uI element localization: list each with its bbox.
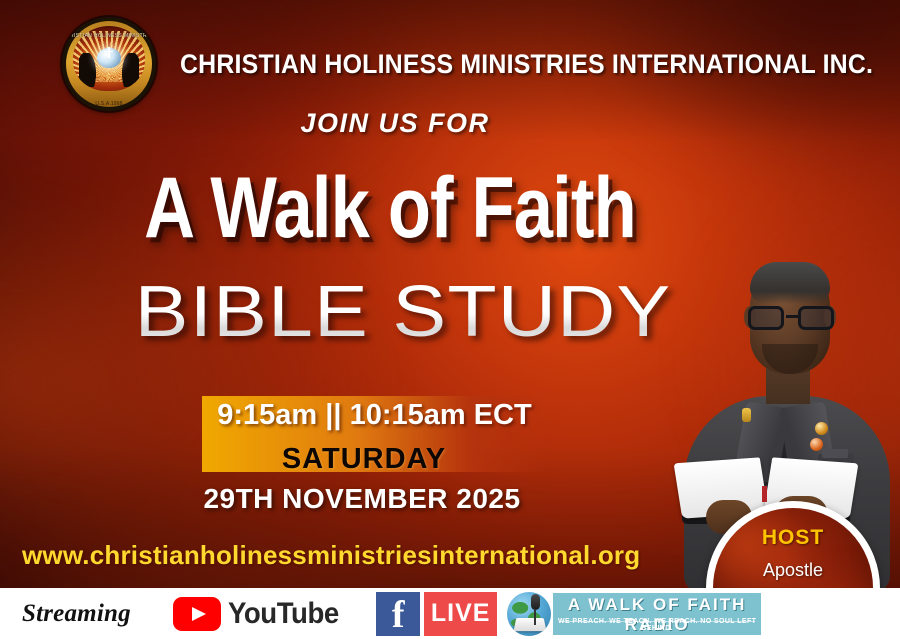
streaming-label: Streaming (22, 600, 131, 628)
logo-bottom-text: U.S.A 1998 (62, 101, 156, 107)
radio-book-icon (514, 618, 547, 631)
organization-name: CHRISTIAN HOLINESS MINISTRIES INTERNATIO… (180, 49, 873, 80)
streaming-bar: Streaming YouTube f LIVE A WALK OF FAITH… (0, 588, 900, 639)
schedule-time: 9:15am || 10:15am ECT (202, 399, 547, 432)
youtube-logo[interactable]: YouTube (173, 597, 348, 631)
website-url[interactable]: www.christianholinessministriesinternati… (22, 540, 682, 571)
glasses-bridge (786, 315, 798, 318)
radio-globe-icon (507, 592, 551, 636)
schedule-date: 29TH NOVEMBER 2025 (190, 483, 534, 515)
youtube-play-icon (173, 597, 221, 631)
header: CHRISTIAN HOLINESS MINISTRIES U.S.A 1998… (0, 14, 900, 114)
ministry-logo-icon: CHRISTIAN HOLINESS MINISTRIES U.S.A 1998 (62, 17, 156, 111)
radio-tagline: WE PREACH. WE TEACH. WE REACH. NO SOUL L… (553, 618, 761, 632)
host-label: HOST (713, 526, 873, 550)
eyeglasses-icon (746, 306, 836, 330)
facebook-f-glyph: f (376, 594, 420, 636)
host-hair (750, 262, 830, 304)
lapel-pin-gold (815, 422, 828, 435)
hero-kicker: JOIN US FOR (0, 108, 790, 139)
flyer-canvas: CHRISTIAN HOLINESS MINISTRIES U.S.A 1998… (0, 0, 900, 639)
lens-left (748, 306, 784, 330)
schedule-day: SATURDAY (202, 443, 526, 476)
lens-right (798, 306, 834, 330)
logo-arc-text: CHRISTIAN HOLINESS MINISTRIES (62, 21, 156, 51)
hero-title-script: A Walk of Faith (70, 160, 710, 256)
host-role: Apostle (713, 560, 873, 581)
microphone-icon (531, 594, 540, 610)
microphone-stem (534, 609, 536, 625)
bible-bookmark (762, 486, 767, 502)
youtube-wordmark: YouTube (228, 597, 339, 631)
radio-nameplate: A WALK OF FAITH RADIO WE PREACH. WE TEAC… (553, 593, 761, 635)
lapel-pin-flag (742, 408, 751, 422)
live-badge[interactable]: LIVE (424, 592, 497, 636)
logo-ring: CHRISTIAN HOLINESS MINISTRIES U.S.A 1998 (62, 17, 156, 111)
lapel-pin-orange (810, 438, 823, 451)
facebook-icon[interactable]: f (376, 592, 420, 636)
radio-logo[interactable]: A WALK OF FAITH RADIO WE PREACH. WE TEAC… (507, 592, 761, 636)
